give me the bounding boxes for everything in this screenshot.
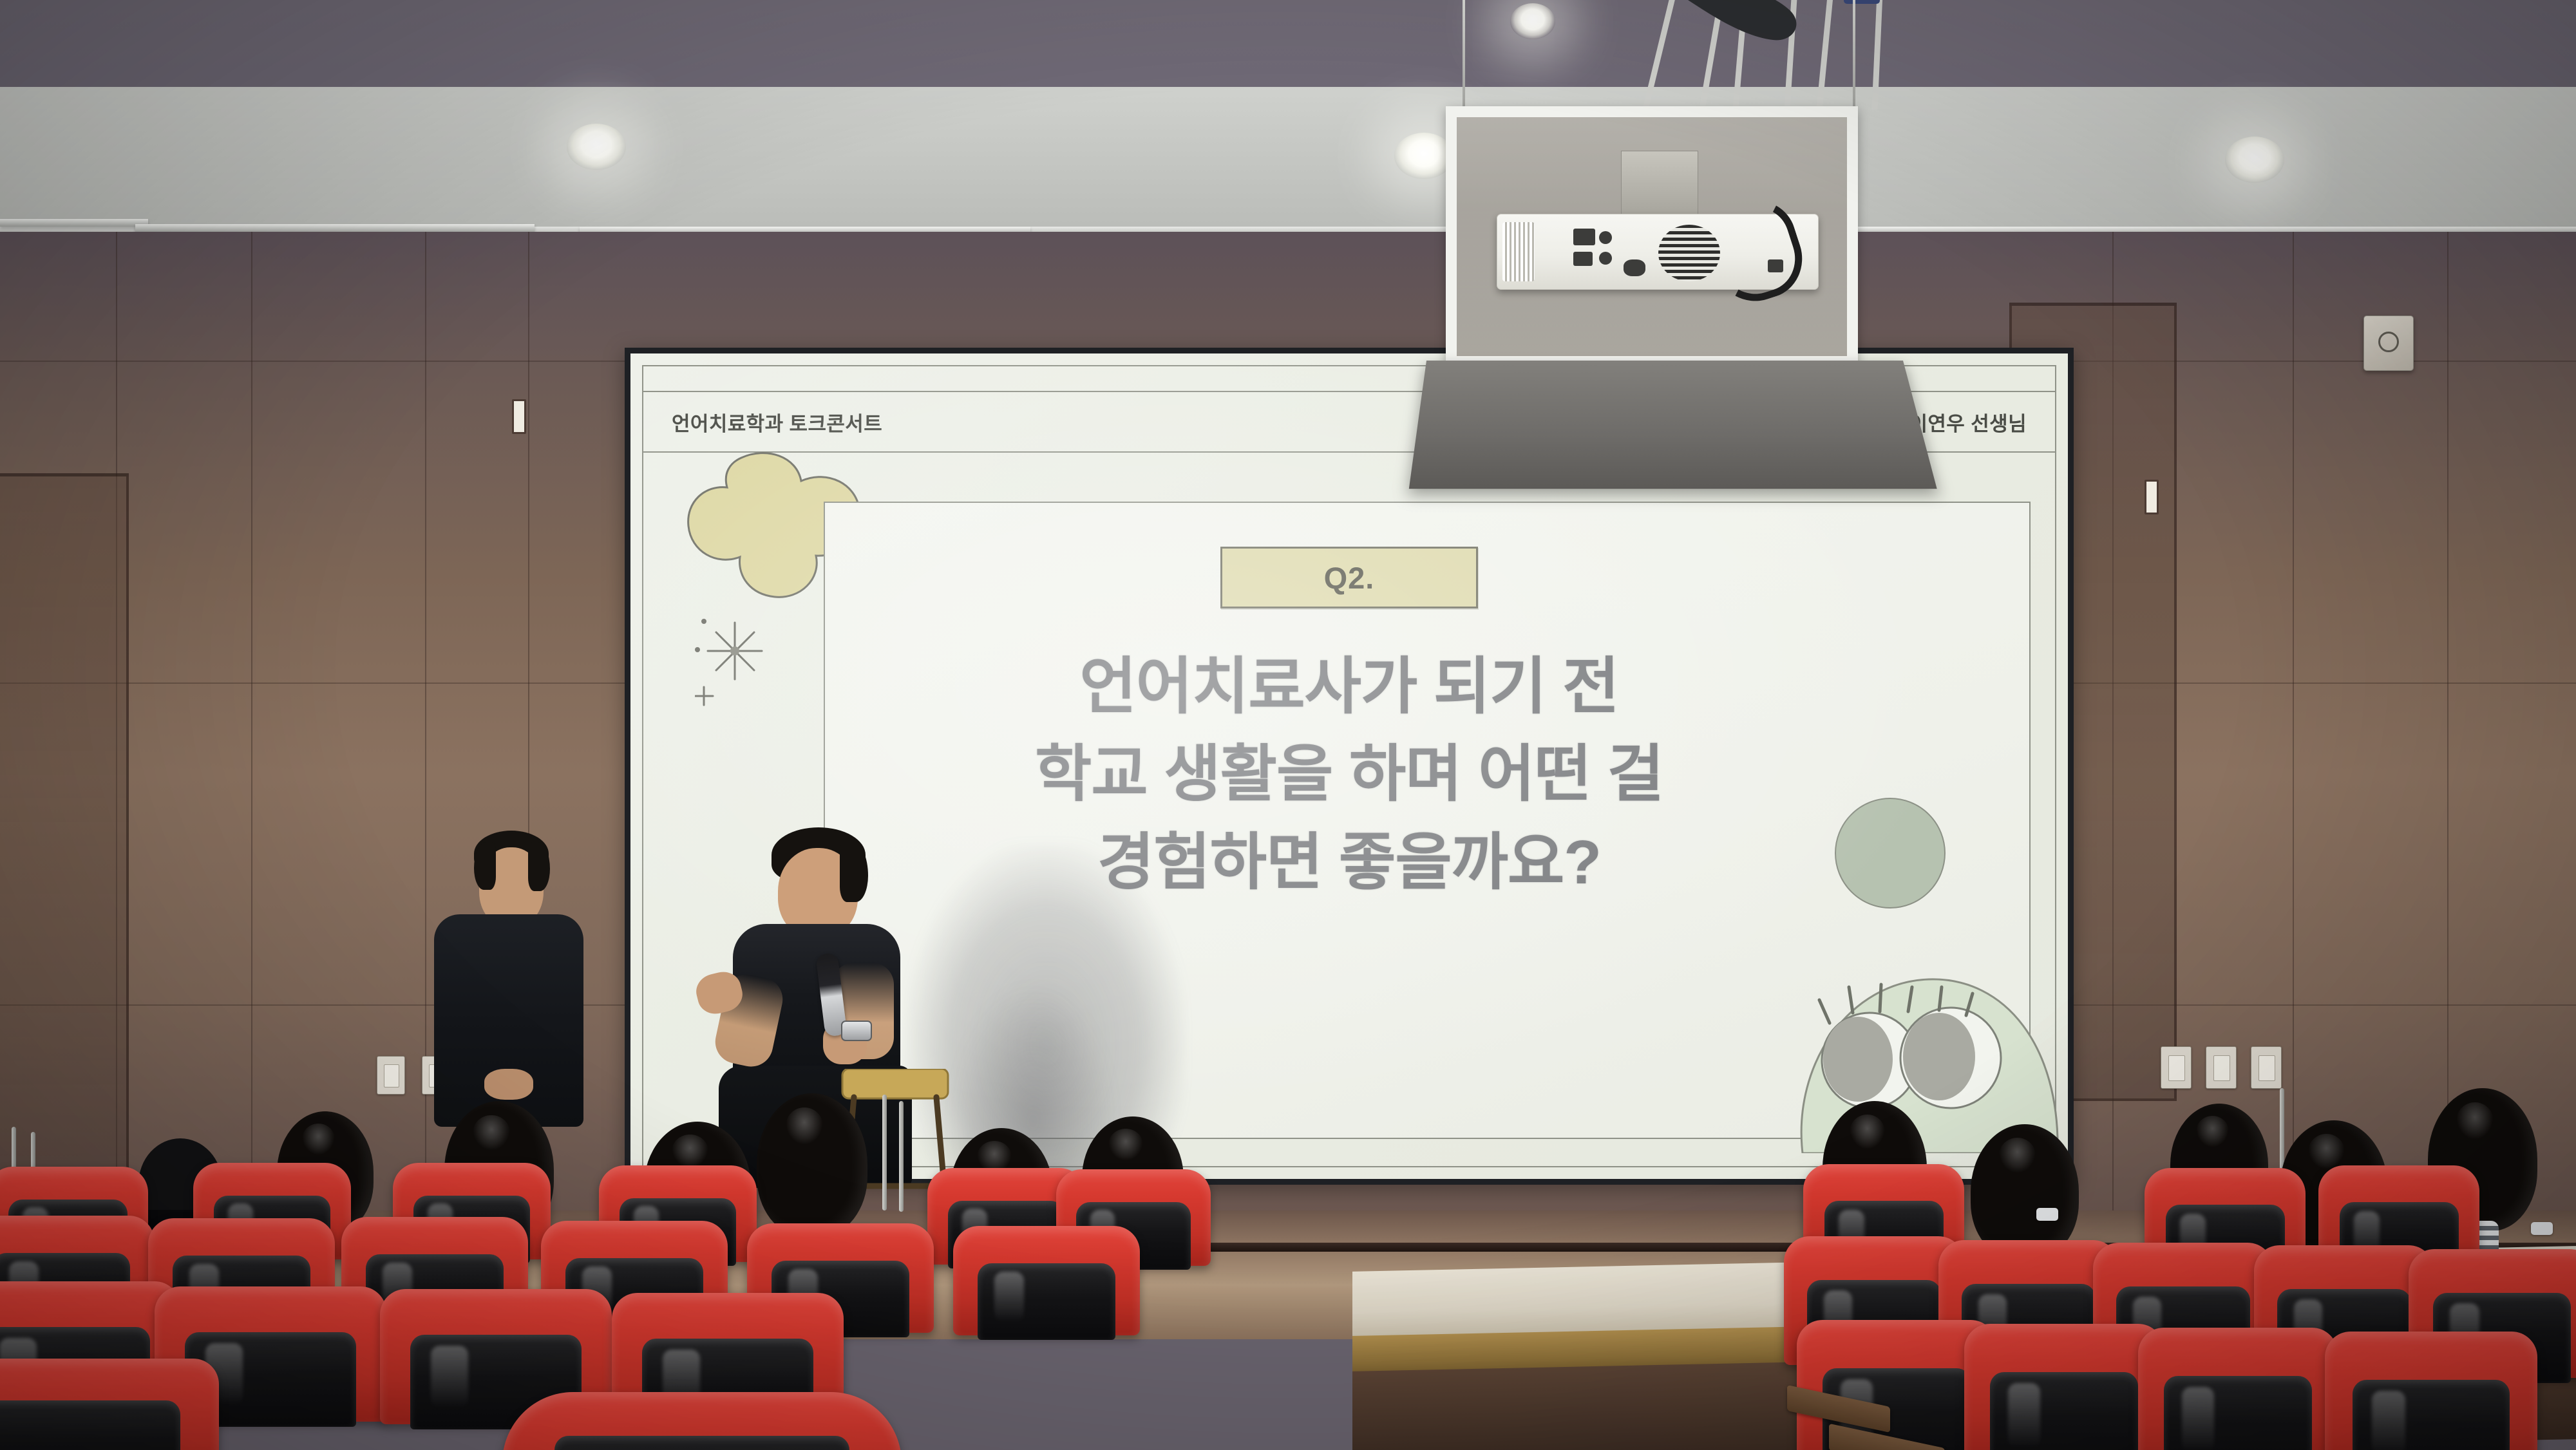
seat-row-c-r2[interactable] bbox=[1964, 1324, 2164, 1450]
question-number-label: Q2. bbox=[1324, 560, 1375, 596]
ceiling-downlight-4 bbox=[2225, 137, 2284, 183]
projector-port-vga bbox=[1573, 252, 1593, 266]
seat-backrest bbox=[554, 1436, 850, 1450]
wall-panel-6 bbox=[2293, 232, 2294, 1236]
aisle-rail-right bbox=[2280, 1088, 2284, 1172]
ceiling-rail-mid bbox=[135, 224, 535, 232]
audience-head-8 bbox=[1971, 1124, 2079, 1259]
aisle-rail-mid-2 bbox=[899, 1101, 904, 1212]
wall-outlet-4[interactable] bbox=[2206, 1046, 2237, 1089]
seat-row-b-6[interactable] bbox=[953, 1226, 1140, 1335]
wall-speaker-sensor-icon bbox=[2363, 315, 2414, 371]
head-highlight bbox=[1850, 1115, 1885, 1149]
seat-highlight bbox=[2182, 1387, 2214, 1450]
head-highlight bbox=[786, 1107, 823, 1145]
projector-power-socket bbox=[1624, 259, 1645, 276]
head-highlight bbox=[1108, 1129, 1143, 1161]
ceiling-mount-hardware bbox=[1626, 0, 1897, 116]
audience-head-4 bbox=[757, 1093, 867, 1236]
sparkle-shape-icon bbox=[695, 611, 779, 708]
moderator-hair-side bbox=[474, 842, 496, 890]
head-highlight bbox=[473, 1115, 510, 1151]
emergency-indicator-right bbox=[2145, 480, 2159, 514]
audience-seating bbox=[0, 1088, 2576, 1450]
wall-panel-7 bbox=[2447, 232, 2448, 1236]
ceiling-rail-left bbox=[0, 219, 148, 227]
seat-row-d-1[interactable] bbox=[0, 1359, 219, 1450]
hair-clip-2 bbox=[2531, 1222, 2553, 1235]
side-door-left[interactable] bbox=[0, 473, 129, 1194]
head-highlight bbox=[672, 1135, 708, 1168]
question-line-2: 학교 생활을 하며 어떤 걸 bbox=[847, 731, 1851, 818]
head-highlight bbox=[2196, 1116, 2230, 1147]
wall-outlet-5[interactable] bbox=[2251, 1046, 2282, 1089]
seat-highlight bbox=[431, 1346, 468, 1408]
rig-chain-right bbox=[1853, 0, 1855, 117]
aisle-rail-mid bbox=[882, 1095, 887, 1210]
seat-row-c-r3[interactable] bbox=[2138, 1328, 2338, 1450]
ceiling-downlight-1 bbox=[567, 124, 626, 170]
head-highlight bbox=[302, 1124, 335, 1155]
projector-port-audio bbox=[1599, 231, 1612, 244]
wall-panel-2 bbox=[251, 232, 252, 1236]
slide-header-left-title: 언어치료학과 토크콘서트 bbox=[672, 408, 882, 437]
ceiling-soffit bbox=[0, 87, 2576, 238]
projector-ceiling-mount bbox=[1621, 151, 1698, 218]
head-highlight bbox=[1999, 1138, 2036, 1173]
seat-row-c-r4[interactable] bbox=[2325, 1332, 2537, 1450]
wall-outlet-3[interactable] bbox=[2161, 1046, 2192, 1089]
rig-chain-left bbox=[1463, 0, 1465, 117]
seat-highlight bbox=[2372, 1391, 2406, 1450]
projector-port-hdmi bbox=[1573, 229, 1595, 245]
projector-intake-grille bbox=[1502, 222, 1535, 281]
auditorium-photo: 언어치료학과 토크콘서트 재목, 이연우 선생님 bbox=[0, 0, 2576, 1450]
seat-highlight bbox=[994, 1272, 1024, 1322]
emergency-indicator-left bbox=[512, 399, 526, 434]
head-highlight bbox=[2456, 1102, 2494, 1140]
question-number-badge: Q2. bbox=[1220, 547, 1478, 608]
question-line-1: 언어치료사가 되기 전 bbox=[847, 643, 1851, 731]
seat-backrest bbox=[0, 1400, 180, 1450]
projector-cage bbox=[1446, 106, 1858, 367]
hair-clip-1 bbox=[2036, 1208, 2058, 1221]
speaker-wristwatch bbox=[841, 1021, 872, 1041]
projector-port-audio-2 bbox=[1599, 252, 1612, 265]
head-highlight bbox=[2308, 1134, 2345, 1169]
ceiling-projector-rig bbox=[1426, 0, 1929, 444]
projector-shroud-panel bbox=[1409, 361, 1937, 489]
projector-unit bbox=[1497, 214, 1819, 290]
seat-highlight bbox=[2008, 1383, 2040, 1448]
seat-row-d-2[interactable] bbox=[502, 1392, 902, 1450]
